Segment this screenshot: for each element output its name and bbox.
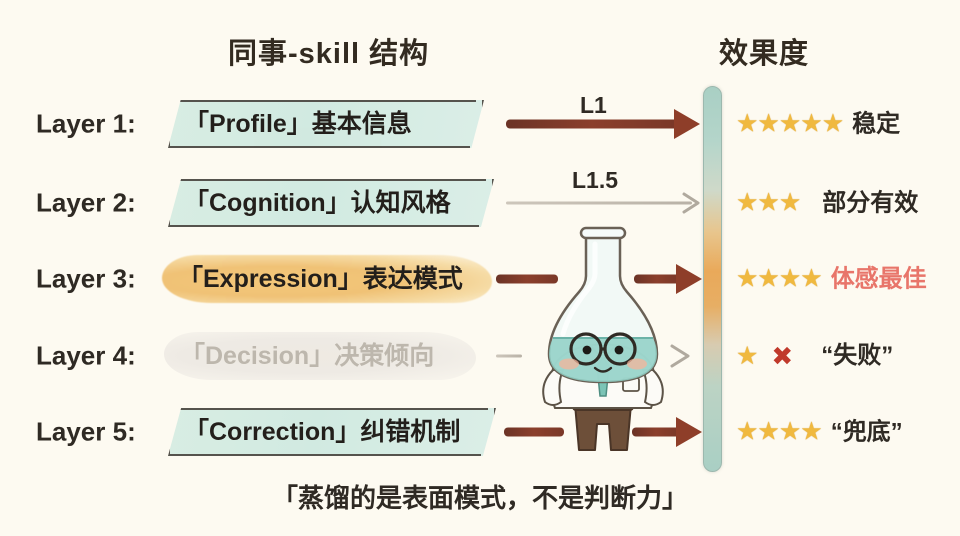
right-blush bbox=[627, 359, 647, 370]
rating-row-1: ★ ★ ★ ★ ★ 稳定 bbox=[736, 112, 900, 137]
right-arm bbox=[643, 370, 663, 405]
star-icon: ★ bbox=[779, 112, 801, 137]
star-icon: ★ bbox=[736, 267, 758, 292]
stars-row-1: ★ ★ ★ ★ ★ bbox=[736, 112, 843, 137]
rating-text-row-5: “兜底” bbox=[831, 420, 903, 444]
layer-5-banner[interactable]: 「Correction」纠错机制 bbox=[168, 408, 496, 456]
left-column-title: 同事-skill 结构 bbox=[228, 30, 429, 72]
layer-3-label: Layer 3: bbox=[36, 264, 136, 295]
right-eye bbox=[615, 346, 624, 355]
rating-row-5: ★ ★ ★ ★ “兜底” bbox=[736, 420, 903, 445]
arrow-head-icon bbox=[680, 190, 706, 216]
left-arm bbox=[543, 370, 563, 405]
right-column-title: 效果度 bbox=[719, 30, 809, 72]
rating-text-row-4: “失败” bbox=[821, 344, 893, 368]
layer-2-banner[interactable]: 「Cognition」认知风格 bbox=[168, 179, 494, 227]
left-eye bbox=[583, 346, 592, 355]
rating-row-3: ★ ★ ★ ★ 体感最佳 bbox=[736, 267, 927, 292]
star-icon: ★ bbox=[757, 112, 779, 137]
layer-row-5: Layer 5: 「Correction」纠错机制 ★ ★ ★ ★ “兜底” bbox=[0, 404, 960, 460]
layer-2-banner-text: 「Cognition」认知风格 bbox=[184, 191, 451, 216]
star-icon: ★ bbox=[736, 344, 758, 369]
flow-arrow-2 bbox=[506, 190, 702, 216]
fail-x-icon: ✖ bbox=[771, 343, 793, 369]
stars-row-5: ★ ★ ★ ★ bbox=[736, 420, 822, 445]
layer-row-4: Layer 4: 「Decision」决策倾向 ★ ✖ “失败” bbox=[0, 328, 960, 384]
star-icon: ★ bbox=[779, 191, 801, 216]
layer-4-label: Layer 4: bbox=[36, 341, 136, 372]
layer-2-label: Layer 2: bbox=[36, 188, 136, 219]
layer-row-3: Layer 3: 「Expression」表达模式 ★ ★ ★ ★ 体感最佳 bbox=[0, 251, 960, 307]
layer-1-label: Layer 1: bbox=[36, 109, 136, 140]
layer-5-label: Layer 5: bbox=[36, 417, 136, 448]
layer-1-banner[interactable]: 「Profile」基本信息 bbox=[168, 100, 484, 148]
rating-text-row-3: 体感最佳 bbox=[831, 267, 927, 291]
left-blush bbox=[559, 359, 579, 370]
star-icon: ★ bbox=[757, 267, 779, 292]
layer-4-banner-text: 「Decision」决策倾向 bbox=[180, 344, 434, 369]
flask-scientist-character bbox=[523, 218, 683, 456]
rating-text-row-1: 稳定 bbox=[852, 112, 900, 136]
flow-arrow-1 bbox=[506, 109, 702, 139]
layer-row-1: Layer 1: 「Profile」基本信息 L1 ★ ★ ★ ★ ★ 稳定 bbox=[0, 96, 960, 152]
star-icon: ★ bbox=[822, 112, 844, 137]
star-icon: ★ bbox=[800, 267, 822, 292]
star-icon: ★ bbox=[736, 191, 758, 216]
flask-rim bbox=[581, 228, 625, 238]
rating-row-4: ★ ✖ “失败” bbox=[736, 343, 893, 369]
star-icon: ★ bbox=[779, 420, 801, 445]
layer-5-banner-text: 「Correction」纠错机制 bbox=[184, 420, 460, 445]
layer-row-2: Layer 2: 「Cognition」认知风格 L1.5 ★ ★ ★ 部分有效 bbox=[0, 175, 960, 231]
rating-text-row-2: 部分有效 bbox=[822, 191, 918, 215]
rating-row-2: ★ ★ ★ 部分有效 bbox=[736, 191, 918, 216]
star-icon: ★ bbox=[779, 267, 801, 292]
star-icon: ★ bbox=[736, 420, 758, 445]
layer-1-banner-text: 「Profile」基本信息 bbox=[184, 112, 412, 137]
star-icon: ★ bbox=[757, 420, 779, 445]
footer-caption: 「蒸馏的是表面模式，不是判断力」 bbox=[0, 478, 960, 515]
diagram-canvas: 同事-skill 结构 效果度 Layer 1: 「Profile」基本信息 L… bbox=[0, 0, 960, 536]
star-icon: ★ bbox=[800, 420, 822, 445]
stars-row-3: ★ ★ ★ ★ bbox=[736, 267, 822, 292]
star-icon: ★ bbox=[800, 112, 822, 137]
layer-3-banner-text: 「Expression」表达模式 bbox=[178, 267, 463, 292]
star-icon: ★ bbox=[757, 191, 779, 216]
stars-row-4: ★ bbox=[736, 344, 757, 369]
star-icon: ★ bbox=[736, 112, 758, 137]
layer-3-banner[interactable]: 「Expression」表达模式 bbox=[162, 255, 492, 303]
stars-row-2: ★ ★ ★ bbox=[736, 191, 800, 216]
layer-4-banner[interactable]: 「Decision」决策倾向 bbox=[164, 332, 476, 380]
